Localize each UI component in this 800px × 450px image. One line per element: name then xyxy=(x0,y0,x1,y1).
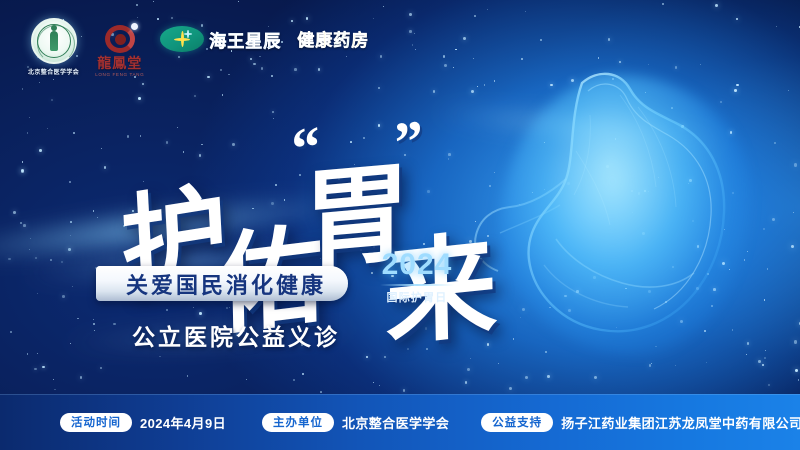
sponsor-logo-label: 龍鳳堂 xyxy=(97,56,142,70)
sponsor-logo-beijing-integrative-medicine[interactable]: 北京整合医学学会 xyxy=(28,18,79,76)
tagline-banner: 关爱国民消化健康 xyxy=(96,266,348,301)
poster-canvas: 北京整合医学学会 龍鳳堂 LONG FENG TANG 海王星辰 健康药房 护 … xyxy=(0,0,800,450)
year-block: 2024 国际护胃日 xyxy=(380,250,454,305)
footer-label-pill: 公益支持 xyxy=(481,413,553,432)
sponsor-logo-row: 北京整合医学学会 龍鳳堂 LONG FENG TANG 海王星辰 健康药房 xyxy=(28,18,369,77)
sponsor-logo-label: 北京整合医学学会 xyxy=(28,67,79,76)
year-divider xyxy=(380,284,454,286)
pharmacy-label-part2: 药 xyxy=(333,31,351,50)
year-text: 2024 xyxy=(380,250,454,280)
footer-value: 2024年4月9日 xyxy=(140,413,226,432)
pharmacy-label-part3: 房 xyxy=(351,31,369,50)
medical-society-emblem-icon xyxy=(31,18,77,64)
footer-value: 扬子江药业集团江苏龙凤堂中药有限公司 xyxy=(561,413,800,432)
tagline-text: 关爱国民消化健康 xyxy=(126,268,326,300)
sponsor-logo-label: 海王星辰 xyxy=(209,27,281,52)
green-oval-star-icon xyxy=(160,26,204,52)
footer-item-time: 活动时间 2024年4月9日 xyxy=(60,413,226,432)
footer-label-pill: 活动时间 xyxy=(60,413,132,432)
pharmacy-label-part1: 健康 xyxy=(297,31,333,50)
footer-info-bar: 活动时间 2024年4月9日 主办单位 北京整合医学学会 公益支持 扬子江药业集… xyxy=(0,394,800,450)
dragon-phoenix-ring-icon xyxy=(100,22,140,56)
footer-value: 北京整合医学学会 xyxy=(342,413,449,432)
quote-close-mark: ” xyxy=(392,107,428,177)
sponsor-logo-label: 健康药房 xyxy=(297,26,369,51)
subtitle-text: 公立医院公益义诊 xyxy=(132,318,340,352)
footer-label-pill: 主办单位 xyxy=(262,413,334,432)
sponsor-logo-pinyin: LONG FENG TANG xyxy=(95,72,144,77)
year-subtitle: 国际护胃日 xyxy=(380,289,454,305)
footer-item-support: 公益支持 扬子江药业集团江苏龙凤堂中药有限公司 xyxy=(481,413,800,432)
stomach-glow xyxy=(500,75,750,355)
footer-item-organizer: 主办单位 北京整合医学学会 xyxy=(262,413,449,432)
sponsor-logo-haiwangxingchen[interactable]: 海王星辰 xyxy=(160,26,281,52)
sponsor-logo-health-pharmacy[interactable]: 健康药房 xyxy=(297,26,369,51)
sponsor-logo-longfengtang[interactable]: 龍鳳堂 LONG FENG TANG xyxy=(95,22,144,77)
